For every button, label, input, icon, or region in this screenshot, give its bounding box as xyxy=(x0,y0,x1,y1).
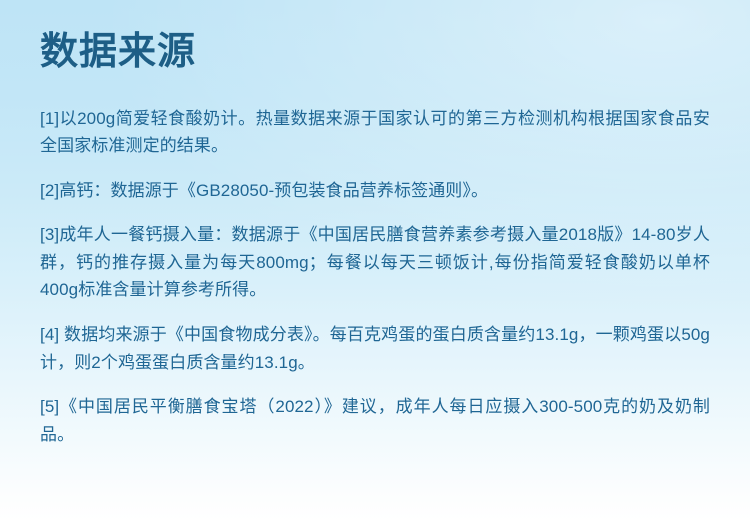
reference-item-5: [5]《中国居民平衡膳食宝塔（2022）》建议，成年人每日应摄入300-500克… xyxy=(40,393,710,448)
reference-item-2: [2]高钙：数据源于《GB28050-预包装食品营养标签通则》。 xyxy=(40,177,710,205)
page-title: 数据来源 xyxy=(40,30,710,75)
reference-item-4: [4] 数据均来源于《中国食物成分表》。每百克鸡蛋的蛋白质含量约13.1g，一颗… xyxy=(40,321,710,376)
reference-item-1: [1]以200g简爱轻食酸奶计。热量数据来源于国家认可的第三方检测机构根据国家食… xyxy=(40,105,710,160)
reference-list: [1]以200g简爱轻食酸奶计。热量数据来源于国家认可的第三方检测机构根据国家食… xyxy=(40,105,710,448)
page-content: 数据来源 [1]以200g简爱轻食酸奶计。热量数据来源于国家认可的第三方检测机构… xyxy=(0,0,750,448)
reference-item-3: [3]成年人一餐钙摄入量：数据源于《中国居民膳食营养素参考摄入量2018版》14… xyxy=(40,221,710,304)
data-source-page: 数据来源 [1]以200g简爱轻食酸奶计。热量数据来源于国家认可的第三方检测机构… xyxy=(0,0,750,521)
